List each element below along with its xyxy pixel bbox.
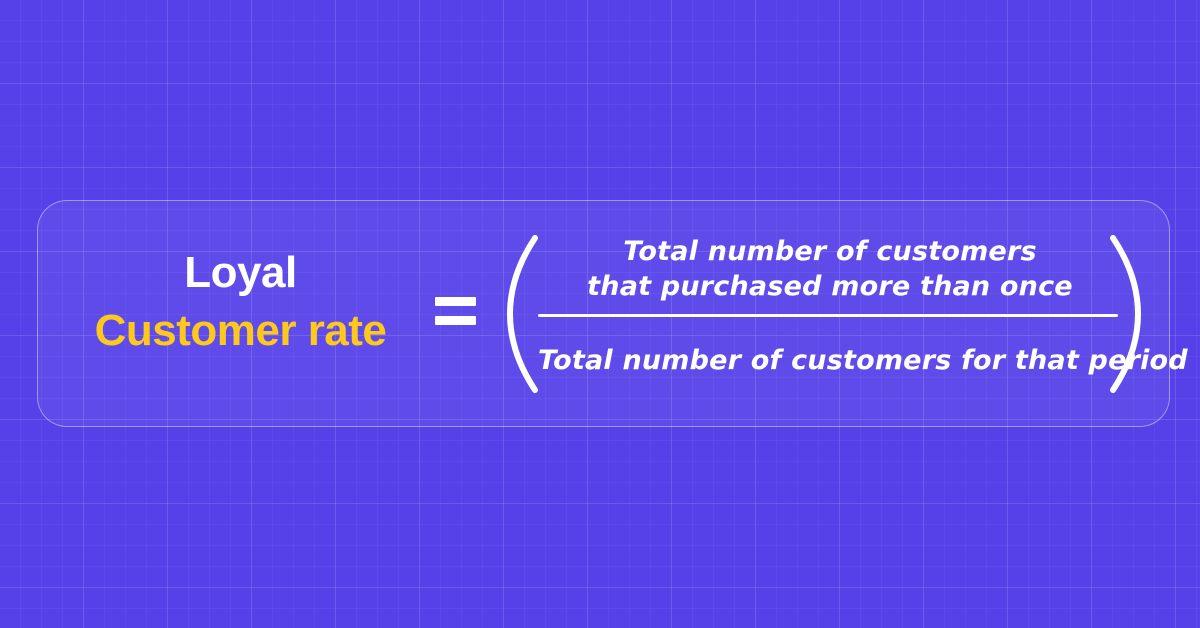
formula-card: Loyal Customer rate Total number of cust… (37, 200, 1170, 427)
numerator-line-1: Total number of customers (538, 234, 1122, 269)
equals-bar-top (435, 297, 476, 306)
equals-sign-icon (435, 297, 476, 327)
fraction-denominator: Total number of customers for that perio… (538, 343, 1122, 378)
fraction-group: Total number of customers that purchased… (504, 234, 1154, 394)
close-paren-icon (1104, 234, 1144, 394)
formula-label-line-1: Loyal (63, 251, 418, 295)
fraction-numerator: Total number of customers that purchased… (538, 234, 1122, 304)
numerator-line-2: that purchased more than once (538, 269, 1122, 304)
formula-graphic: Loyal Customer rate Total number of cust… (0, 0, 1200, 628)
formula-label: Loyal Customer rate (63, 251, 418, 353)
formula-label-line-2: Customer rate (63, 309, 418, 353)
fraction-bar (538, 314, 1118, 317)
equals-bar-bottom (435, 316, 476, 325)
